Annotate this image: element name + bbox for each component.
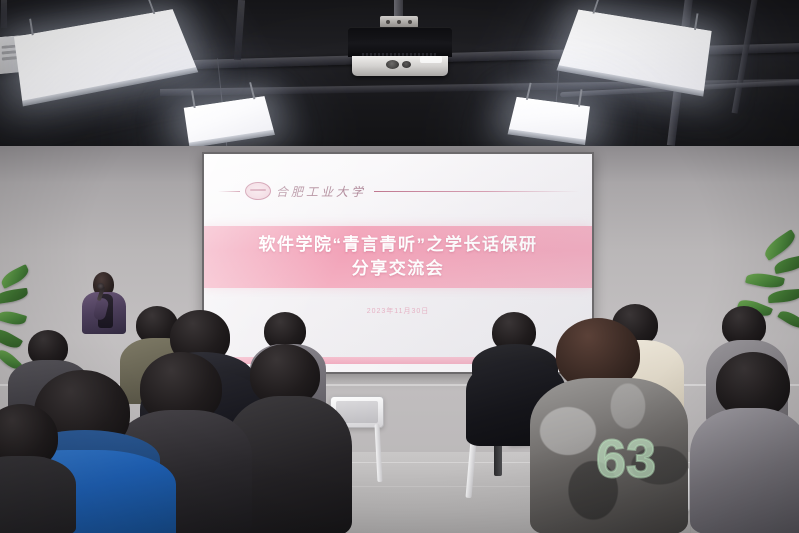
slide-logo-row: 合肥工业大学 (204, 178, 592, 204)
logo-rule-left (218, 191, 240, 192)
led-panel-mid-left (184, 96, 274, 144)
university-seal-icon (245, 182, 271, 200)
logo-rule-right (374, 191, 580, 192)
microphone-head-icon (97, 283, 104, 289)
jacket-back-graphic: 63 (596, 432, 656, 486)
lecture-hall-screenshot: 合肥工业大学 软件学院“青言青听”之学长话保研 分享交流会 2023年11月30… (0, 0, 799, 533)
projector-icon (346, 16, 454, 78)
ceiling-beam-far-right (732, 0, 759, 114)
slide-title-line-1: 软件学院“青言青听”之学长话保研 (259, 234, 538, 256)
student-jacket (690, 408, 799, 533)
led-panel-mid-right (509, 97, 590, 141)
university-logo-text: 合肥工业大学 (276, 183, 366, 200)
projection-screen: 合肥工业大学 软件学院“青言青听”之学长话保研 分享交流会 2023年11月30… (202, 152, 594, 374)
student-jacket (0, 456, 76, 533)
ceiling (0, 0, 799, 152)
led-panel-front-left (14, 9, 197, 102)
projector-lens-icon (386, 60, 399, 69)
projector-sensor-icon (402, 61, 411, 68)
projector-highlight (420, 56, 442, 63)
projector-body-top (348, 27, 452, 57)
slide-date: 2023年11月30日 (204, 306, 592, 316)
ceiling-beam-far-left (1, 0, 7, 28)
ceiling-beam-left (234, 0, 245, 60)
slide-title-band: 软件学院“青言青听”之学长话保研 分享交流会 (204, 226, 592, 288)
slide-title-line-2: 分享交流会 (352, 258, 445, 280)
